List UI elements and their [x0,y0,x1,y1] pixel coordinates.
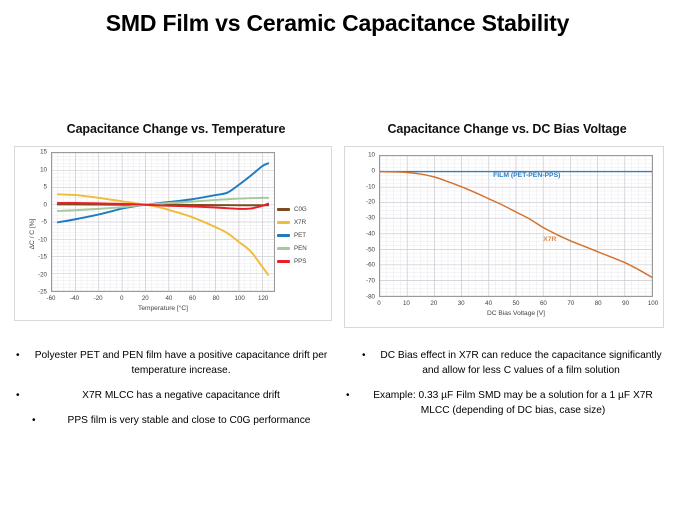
legend-swatch-icon [277,260,290,263]
legend-item-pet: PET [277,229,327,242]
x-tick-label: 10 [403,300,410,307]
legend-item-c0g: C0G [277,203,327,216]
y-tick-label: -60 [366,262,375,269]
list-item: •DC Bias effect in X7R can reduce the ca… [346,348,668,378]
x-tick-label: 80 [595,300,602,307]
x-tick-label: 20 [142,295,149,302]
x-tick-label: 30 [458,300,465,307]
annotation-x7r: X7R [543,236,556,243]
list-item: •PPS film is very stable and close to C0… [16,413,334,428]
x-tick-label: 40 [485,300,492,307]
y-tick-label: 5 [44,184,47,191]
y-tick-label: -20 [366,199,375,206]
plot-area-dc-bias: FILM (PET-PEN-PPS) X7R [379,155,653,297]
legend-label: PPS [294,258,306,265]
y-tick-label: -80 [366,294,375,301]
x-tick-label: -40 [70,295,79,302]
legend-swatch-icon [277,208,290,211]
y-tick-label: 10 [368,152,375,159]
legend-label: PEN [294,245,307,252]
series-lines-temperature [52,153,274,291]
panel-temperature: Capacitance Change vs. Temperature -60-4… [8,122,338,321]
list-item: •X7R MLCC has a negative capacitance dri… [16,388,334,403]
legend-label: PET [294,232,306,239]
bullet-list-dc-bias: •DC Bias effect in X7R can reduce the ca… [346,348,668,428]
x-tick-label: 50 [513,300,520,307]
x-tick-label: -20 [94,295,103,302]
legend-item-pps: PPS [277,255,327,268]
bullet-marker-icon: • [346,388,358,418]
bullet-text: X7R MLCC has a negative capacitance drif… [28,388,334,403]
list-item: •Example: 0.33 µF Film SMD may be a solu… [346,388,668,418]
legend-swatch-icon [277,247,290,250]
x-axis-title-dc-bias: DC Bias Voltage [V] [487,310,545,317]
x-tick-label: 100 [648,300,658,307]
x-tick-label: 80 [213,295,220,302]
legend-item-x7r: X7R [277,216,327,229]
y-tick-label: 0 [44,201,47,208]
x-tick-label: 120 [258,295,268,302]
y-tick-label: -25 [38,289,47,296]
bullet-marker-icon: • [16,348,28,378]
bullet-list-temperature: •Polyester PET and PEN film have a posit… [16,348,334,438]
y-tick-label: -10 [366,183,375,190]
x-tick-label: 60 [540,300,547,307]
x-tick-label: -60 [47,295,56,302]
bullet-text: Example: 0.33 µF Film SMD may be a solut… [358,388,668,418]
y-tick-label: 15 [40,149,47,156]
y-tick-label: -20 [38,271,47,278]
x-tick-label: 0 [120,295,123,302]
bullet-text: Polyester PET and PEN film have a positi… [28,348,334,378]
y-tick-label: -10 [38,236,47,243]
list-item: •Polyester PET and PEN film have a posit… [16,348,334,378]
x-tick-label: 90 [622,300,629,307]
bullet-text: DC Bias effect in X7R can reduce the cap… [374,348,668,378]
chart-heading-dc-bias: Capacitance Change vs. DC Bias Voltage [340,122,670,136]
bullet-marker-icon: • [362,348,374,378]
x-tick-label: 0 [377,300,380,307]
legend-item-pen: PEN [277,242,327,255]
page-title: SMD Film vs Ceramic Capacitance Stabilit… [0,10,675,37]
x-tick-label: 20 [430,300,437,307]
y-tick-label: -15 [38,254,47,261]
x-tick-label: 70 [567,300,574,307]
chart-heading-temperature: Capacitance Change vs. Temperature [8,122,338,136]
y-tick-label: 0 [372,167,375,174]
x-tick-label: 60 [189,295,196,302]
y-tick-label: 10 [40,166,47,173]
y-axis-title-temperature: ΔC / C [%] [29,218,36,249]
legend-label: C0G [294,206,307,213]
chart-legend-temperature: C0GX7RPETPENPPS [277,203,327,268]
chart-capacitance-vs-temperature: -60-40-20020406080100120-25-20-15-10-505… [14,146,332,321]
bullet-marker-icon: • [16,388,28,403]
x-tick-label: 100 [234,295,244,302]
plot-area-temperature [51,152,275,292]
panel-dc-bias: Capacitance Change vs. DC Bias Voltage F… [340,122,670,328]
legend-label: X7R [294,219,306,226]
legend-swatch-icon [277,221,290,224]
y-tick-label: -40 [366,230,375,237]
x-axis-title-temperature: Temperature [°C] [138,305,188,312]
legend-swatch-icon [277,234,290,237]
x-tick-label: 40 [165,295,172,302]
y-tick-label: -5 [41,219,47,226]
annotation-film: FILM (PET-PEN-PPS) [493,172,560,179]
bullet-text: PPS film is very stable and close to C0G… [44,413,334,428]
y-tick-label: -50 [366,246,375,253]
bullet-marker-icon: • [32,413,44,428]
y-tick-label: -30 [366,215,375,222]
y-tick-label: -70 [366,278,375,285]
slide-root: SMD Film vs Ceramic Capacitance Stabilit… [0,0,675,506]
chart-capacitance-vs-dc-bias: FILM (PET-PEN-PPS) X7R 01020304050607080… [344,146,664,328]
